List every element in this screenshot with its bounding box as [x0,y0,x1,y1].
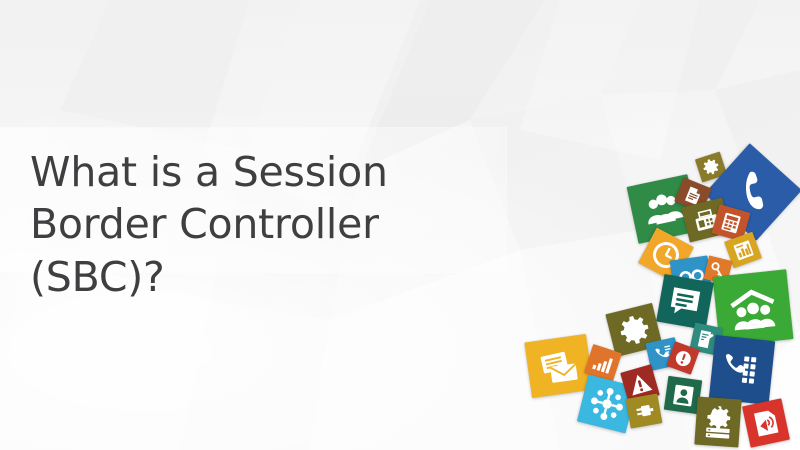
tile-envelope-documents [524,334,593,398]
contact-card-icon [669,381,697,409]
gear-icon [700,156,723,179]
family-home-icon [724,279,781,336]
icon-collage [520,140,800,450]
plug-icon [631,398,656,423]
page-title: What is a Session Border Controller (SBC… [30,146,500,303]
server-gear-icon [700,404,735,439]
megaphone-icon [748,405,784,441]
calculator-icon [717,209,744,236]
tile-keypad-phone [709,335,775,405]
tile-plug-connector [626,393,663,428]
tile-megaphone-doc [742,398,790,447]
alert-icon [671,346,695,370]
envelope-icon [536,343,582,389]
keypad-phone-icon [718,346,766,394]
tile-chat-document [656,274,714,330]
chart-icon [730,237,757,264]
chat-bubble-icon [664,281,706,323]
tile-gear-server [694,397,741,448]
slide-root: What is a Session Border Controller (SBC… [0,0,800,450]
signal-icon [589,349,617,377]
network-icon [585,382,629,426]
